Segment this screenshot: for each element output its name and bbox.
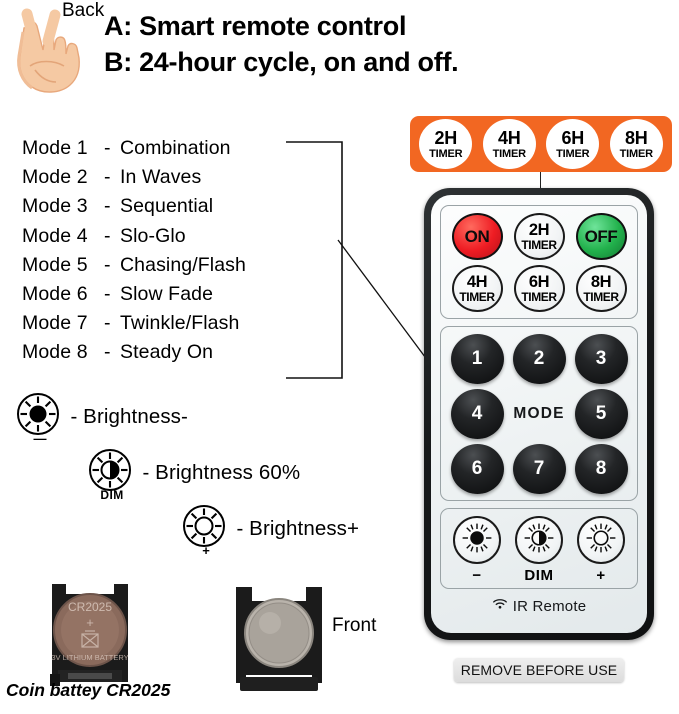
mode-dash: - bbox=[104, 163, 120, 192]
timer-6h-label: TIMER bbox=[521, 291, 556, 303]
mode-dash: - bbox=[104, 251, 120, 280]
dim-label: DIM bbox=[524, 567, 553, 584]
on-button[interactable]: ON bbox=[452, 213, 503, 260]
brightness-minus-label: - Brightness- bbox=[70, 405, 188, 429]
mode-label: Mode 8 bbox=[22, 338, 104, 367]
timer-badge-bar: 2H TIMER 4H TIMER 6H TIMER 8H TIMER bbox=[410, 116, 672, 172]
timer-badge-6h: 6H TIMER bbox=[546, 119, 599, 169]
key-cell: 6H TIMER bbox=[508, 265, 570, 312]
timer-badge-label: TIMER bbox=[429, 149, 462, 160]
mode-row: Mode 4-Slo-Glo bbox=[22, 222, 322, 251]
mode-label: Mode 2 bbox=[22, 163, 104, 192]
sun-half-icon: DIM bbox=[88, 448, 136, 497]
mode-row: Mode 1-Combination bbox=[22, 134, 322, 163]
brightness-plus-label: - Brightness+ bbox=[236, 517, 359, 541]
dim-cell: − bbox=[446, 516, 508, 584]
svg-text:3V LITHIUM BATTERY: 3V LITHIUM BATTERY bbox=[51, 653, 128, 662]
timer-4h-button[interactable]: 4H TIMER bbox=[452, 265, 503, 312]
timer-badge-4h: 4H TIMER bbox=[483, 119, 536, 169]
battery-pull-tab[interactable]: REMOVE BEFORE USE bbox=[454, 658, 624, 682]
brightness-dim-label: - Brightness 60% bbox=[142, 461, 300, 485]
mode-button-6[interactable]: 6 bbox=[451, 444, 504, 494]
brightness-legend-minus: — - Brightness- bbox=[16, 392, 188, 441]
sun-filled-icon: — bbox=[16, 392, 64, 441]
sun-filled-icon bbox=[459, 520, 495, 561]
timer-6h-hours: 6H bbox=[529, 274, 549, 291]
battery-back-image: CR2025 + 3V LITHIUM BATTERY bbox=[44, 578, 136, 693]
mode-dash: - bbox=[104, 222, 120, 251]
mode-button-4[interactable]: 4 bbox=[451, 389, 504, 439]
dim-plus-caption: + bbox=[596, 567, 605, 584]
mode-row: Mode 3-Sequential bbox=[22, 192, 322, 221]
sun-outline-icon: + bbox=[182, 504, 230, 553]
key-cell: 4H TIMER bbox=[446, 265, 508, 312]
key-cell: 1 bbox=[446, 334, 508, 384]
remote-control: ON 2H TIMER OFF 4H T bbox=[424, 188, 654, 640]
mode-dash: - bbox=[104, 192, 120, 221]
dim-down-button[interactable] bbox=[453, 516, 501, 564]
mode-dash: - bbox=[104, 134, 120, 163]
mode-label: Mode 7 bbox=[22, 309, 104, 338]
key-cell: ON bbox=[446, 213, 508, 260]
mode-name: Combination bbox=[120, 134, 231, 163]
sun-outline-icon bbox=[583, 520, 619, 561]
sun-half-icon bbox=[521, 520, 557, 561]
timer-4h-hours: 4H bbox=[467, 274, 487, 291]
timer-8h-hours: 8H bbox=[591, 274, 611, 291]
timer-badge-hours: 8H bbox=[625, 129, 647, 147]
minus-mark: — bbox=[16, 432, 64, 445]
mode-button-7[interactable]: 7 bbox=[513, 444, 566, 494]
mode-label: Mode 4 bbox=[22, 222, 104, 251]
mode-row: Mode 2-In Waves bbox=[22, 163, 322, 192]
key-cell: OFF bbox=[570, 213, 632, 260]
off-button[interactable]: OFF bbox=[576, 213, 627, 260]
key-cell: 2 bbox=[508, 334, 570, 384]
mode-row: Mode 6-Slow Fade bbox=[22, 280, 322, 309]
mode-name: Slow Fade bbox=[120, 280, 213, 309]
remote-face: ON 2H TIMER OFF 4H T bbox=[431, 195, 647, 633]
mode-button-3[interactable]: 3 bbox=[575, 334, 628, 384]
ir-signal-icon bbox=[492, 597, 508, 615]
timer-badge-label: TIMER bbox=[620, 149, 653, 160]
timer-badge-hours: 2H bbox=[435, 129, 457, 147]
mode-list: Mode 1-Combination Mode 2-In Waves Mode … bbox=[22, 134, 322, 368]
mode-label: Mode 6 bbox=[22, 280, 104, 309]
mode-name: Chasing/Flash bbox=[120, 251, 246, 280]
mode-row: Mode 7-Twinkle/Flash bbox=[22, 309, 322, 338]
battery-caption: Coin battey CR2025 bbox=[6, 680, 170, 701]
key-cell: 7 bbox=[508, 444, 570, 494]
key-cell: 8H TIMER bbox=[570, 265, 632, 312]
timer-2h-button[interactable]: 2H TIMER bbox=[514, 213, 565, 260]
key-cell: MODE bbox=[508, 389, 570, 439]
battery-back-label: Back bbox=[62, 0, 104, 22]
mode-label: Mode 5 bbox=[22, 251, 104, 280]
timer-8h-button[interactable]: 8H TIMER bbox=[576, 265, 627, 312]
svg-text:+: + bbox=[86, 615, 94, 630]
brightness-legend-dim: DIM - Brightness 60% bbox=[88, 448, 300, 497]
dim-mid-button[interactable] bbox=[515, 516, 563, 564]
timer-8h-label: TIMER bbox=[583, 291, 618, 303]
header-title-block: A: Smart remote control B: 24-hour cycle… bbox=[104, 8, 664, 80]
mode-name: Steady On bbox=[120, 338, 213, 367]
header-line-a: A: Smart remote control bbox=[104, 8, 664, 44]
dim-key-group: − bbox=[440, 508, 638, 589]
plus-mark: + bbox=[182, 544, 230, 557]
brightness-legend-plus: + - Brightness+ bbox=[182, 504, 359, 553]
mode-name: In Waves bbox=[120, 163, 201, 192]
pull-tab-label: REMOVE BEFORE USE bbox=[461, 662, 618, 678]
mode-button-2[interactable]: 2 bbox=[513, 334, 566, 384]
mode-key-group: 1 2 3 4 MODE 5 6 bbox=[440, 326, 638, 501]
ir-remote-footer: IR Remote bbox=[431, 597, 647, 615]
ir-remote-label: IR Remote bbox=[513, 598, 587, 615]
timer-2h-hours: 2H bbox=[529, 222, 549, 239]
mode-dash: - bbox=[104, 280, 120, 309]
mode-button-5[interactable]: 5 bbox=[575, 389, 628, 439]
timer-badge-hours: 4H bbox=[498, 129, 520, 147]
timer-2h-label: TIMER bbox=[521, 239, 556, 251]
mode-center-label: MODE bbox=[513, 405, 564, 423]
dim-minus-caption: − bbox=[472, 567, 481, 584]
key-cell: 8 bbox=[570, 444, 632, 494]
timer-badge-8h: 8H TIMER bbox=[610, 119, 663, 169]
mode-button-8[interactable]: 8 bbox=[575, 444, 628, 494]
mode-dash: - bbox=[104, 309, 120, 338]
dim-cell: DIM bbox=[508, 516, 570, 584]
mode-name: Slo-Glo bbox=[120, 222, 186, 251]
key-cell: 2H TIMER bbox=[508, 213, 570, 260]
key-cell: 6 bbox=[446, 444, 508, 494]
dim-cell: + bbox=[570, 516, 632, 584]
battery-front-image bbox=[228, 583, 330, 698]
timer-badge-label: TIMER bbox=[493, 149, 526, 160]
timer-badge-label: TIMER bbox=[556, 149, 589, 160]
dim-mark: DIM bbox=[88, 489, 136, 502]
on-button-label: ON bbox=[465, 228, 490, 245]
battery-cell-model: CR2025 bbox=[68, 600, 112, 614]
mode-name: Twinkle/Flash bbox=[120, 309, 239, 338]
key-cell: 4 bbox=[446, 389, 508, 439]
dim-up-button[interactable] bbox=[577, 516, 625, 564]
mode-name: Sequential bbox=[120, 192, 213, 221]
timer-4h-label: TIMER bbox=[459, 291, 494, 303]
header-line-b: B: 24-hour cycle, on and off. bbox=[104, 44, 664, 80]
battery-front-label: Front bbox=[332, 615, 376, 637]
mode-label: Mode 1 bbox=[22, 134, 104, 163]
key-cell: 5 bbox=[570, 389, 632, 439]
mode-button-1[interactable]: 1 bbox=[451, 334, 504, 384]
timer-badge-2h: 2H TIMER bbox=[419, 119, 472, 169]
mode-label: Mode 3 bbox=[22, 192, 104, 221]
power-key-group: ON 2H TIMER OFF 4H T bbox=[440, 205, 638, 319]
timer-badge-hours: 6H bbox=[562, 129, 584, 147]
key-cell: 3 bbox=[570, 334, 632, 384]
mode-row: Mode 8-Steady On bbox=[22, 338, 322, 367]
mode-dash: - bbox=[104, 338, 120, 367]
timer-6h-button[interactable]: 6H TIMER bbox=[514, 265, 565, 312]
mode-row: Mode 5-Chasing/Flash bbox=[22, 251, 322, 280]
off-button-label: OFF bbox=[585, 228, 618, 245]
